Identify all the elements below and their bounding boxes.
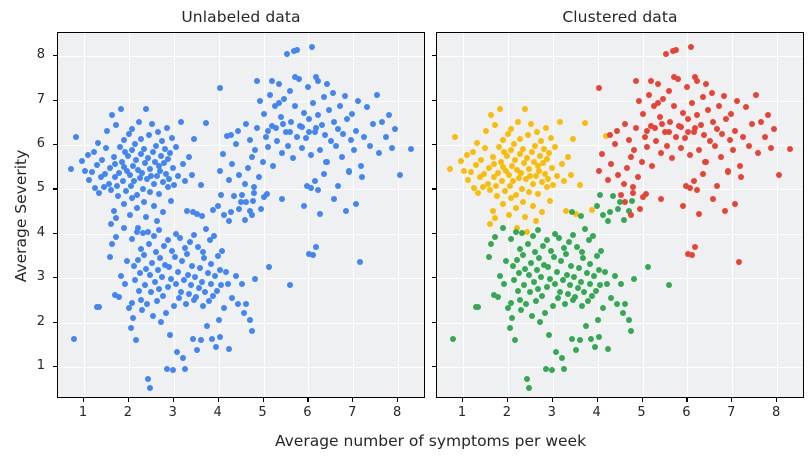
scatter-point — [367, 143, 373, 149]
scatter-point — [278, 114, 284, 120]
scatter-point — [518, 307, 524, 313]
scatter-point — [225, 281, 231, 287]
scatter-point — [642, 134, 648, 140]
scatter-point — [198, 182, 204, 188]
scatter-point — [615, 206, 621, 212]
scatter-point — [106, 181, 112, 187]
scatter-point — [349, 111, 355, 117]
scatter-point — [389, 145, 395, 151]
scatter-point — [143, 214, 149, 220]
scatter-point — [536, 255, 542, 261]
scatter-point — [470, 149, 476, 155]
scatter-point — [630, 190, 636, 196]
scatter-point — [475, 304, 481, 310]
scatter-point — [507, 183, 513, 189]
scatter-point — [633, 78, 639, 84]
scatter-point — [177, 235, 183, 241]
scatter-point — [159, 138, 165, 144]
scatter-point — [554, 269, 560, 275]
x-tick-label: 1 — [447, 405, 477, 420]
scatter-point — [612, 273, 618, 279]
scatter-point — [134, 229, 140, 235]
scatter-point — [577, 182, 583, 188]
scatter-point — [689, 252, 695, 258]
scatter-point — [522, 214, 528, 220]
scatter-point — [600, 305, 606, 311]
scatter-point — [666, 282, 672, 288]
scatter-figure: Unlabeled data Clustered data 1234567812… — [0, 0, 811, 461]
scatter-point — [131, 263, 137, 269]
scatter-point — [570, 232, 576, 238]
scatter-point — [526, 385, 532, 391]
scatter-point — [147, 189, 153, 195]
scatter-point — [509, 315, 515, 321]
scatter-point — [220, 151, 226, 157]
y-tick-mark — [53, 100, 57, 101]
scatter-point — [321, 171, 327, 177]
scatter-point — [628, 328, 634, 334]
scatter-point — [256, 174, 262, 180]
scatter-point — [528, 121, 534, 127]
scatter-point — [108, 187, 114, 193]
scatter-point — [689, 100, 695, 106]
scatter-point — [488, 112, 494, 118]
scatter-point — [133, 337, 139, 343]
scatter-point — [353, 201, 359, 207]
scatter-point — [502, 188, 508, 194]
x-tick-label: 6 — [671, 405, 701, 420]
scatter-point — [121, 201, 127, 207]
scatter-point — [499, 178, 505, 184]
scatter-point — [544, 184, 550, 190]
scatter-point — [758, 119, 764, 125]
x-tick-label: 3 — [158, 405, 188, 420]
scatter-point — [218, 192, 224, 198]
scatter-point — [738, 174, 744, 180]
scatter-point — [143, 106, 149, 112]
scatter-point — [290, 155, 296, 161]
scatter-point — [534, 129, 540, 135]
scatter-point — [330, 90, 336, 96]
scatter-point — [173, 144, 179, 150]
scatter-point — [584, 270, 590, 276]
scatter-point — [581, 289, 587, 295]
scatter-point — [517, 297, 523, 303]
scatter-point — [579, 303, 585, 309]
scatter-point — [216, 317, 222, 323]
scatter-point — [197, 265, 203, 271]
scatter-point — [682, 135, 688, 141]
scatter-point — [622, 199, 628, 205]
scatter-point — [251, 190, 257, 196]
scatter-point — [158, 319, 164, 325]
scatter-point — [513, 205, 519, 211]
scatter-point — [89, 169, 95, 175]
scatter-point — [331, 196, 337, 202]
scatter-point — [179, 258, 185, 264]
scatter-point — [181, 277, 187, 283]
scatter-point — [755, 150, 761, 156]
scatter-point — [261, 111, 267, 117]
scatter-point — [175, 269, 181, 275]
scatter-point — [573, 347, 579, 353]
scatter-point — [91, 149, 97, 155]
scatter-point — [673, 47, 679, 53]
scatter-point — [191, 136, 197, 142]
scatter-point — [281, 96, 287, 102]
scatter-point — [250, 198, 256, 204]
scatter-point — [165, 156, 171, 162]
scatter-point — [517, 136, 523, 142]
scatter-point — [158, 153, 164, 159]
scatter-point — [520, 146, 526, 152]
scatter-point — [164, 125, 170, 131]
scatter-point — [732, 128, 738, 134]
x-tick-mark — [686, 398, 687, 402]
scatter-point — [267, 92, 273, 98]
scatter-point — [215, 203, 221, 209]
scatter-point — [492, 215, 498, 221]
scatter-point — [269, 78, 275, 84]
scatter-point — [597, 282, 603, 288]
scatter-point — [108, 221, 114, 227]
scatter-point — [487, 187, 493, 193]
scatter-point — [229, 295, 235, 301]
scatter-point — [608, 161, 614, 167]
scatter-point — [746, 143, 752, 149]
scatter-point — [111, 154, 117, 160]
scatter-point — [612, 141, 618, 147]
scatter-point — [701, 132, 707, 138]
scatter-point — [527, 289, 533, 295]
scatter-point — [534, 267, 540, 273]
scatter-point — [590, 233, 596, 239]
scatter-point — [113, 234, 119, 240]
scatter-point — [299, 145, 305, 151]
scatter-point — [566, 239, 572, 245]
scatter-point — [99, 157, 105, 163]
scatter-point — [596, 267, 602, 273]
scatter-point — [583, 323, 589, 329]
scatter-point — [359, 174, 365, 180]
scatter-point — [556, 235, 562, 241]
scatter-point — [252, 147, 258, 153]
scatter-point — [167, 332, 173, 338]
scatter-point — [280, 121, 286, 127]
plot-area-clustered — [436, 32, 804, 398]
scatter-point — [655, 81, 661, 87]
scatter-point — [485, 181, 491, 187]
scatter-point — [528, 260, 534, 266]
scatter-point — [155, 129, 161, 135]
scatter-point — [563, 251, 569, 257]
scatter-point — [337, 103, 343, 109]
scatter-point — [481, 171, 487, 177]
scatter-point — [450, 336, 456, 342]
scatter-point — [595, 317, 601, 323]
scatter-point — [551, 254, 557, 260]
scatter-point — [264, 191, 270, 197]
scatter-point — [159, 274, 165, 280]
scatter-point — [497, 106, 503, 112]
scatter-point — [127, 212, 133, 218]
x-tick-mark — [128, 398, 129, 402]
scatter-point — [659, 121, 665, 127]
scatter-point — [243, 301, 249, 307]
scatter-point — [147, 272, 153, 278]
x-tick-label: 3 — [537, 405, 567, 420]
scatter-point — [630, 184, 636, 190]
scatter-point — [559, 355, 565, 361]
scatter-point — [191, 232, 197, 238]
scatter-point — [787, 146, 793, 152]
scatter-point — [491, 161, 497, 167]
scatter-point — [680, 203, 686, 209]
scatter-point — [519, 186, 525, 192]
scatter-point — [539, 293, 545, 299]
scatter-point — [526, 189, 532, 195]
scatter-point — [521, 160, 527, 166]
scatter-point — [482, 145, 488, 151]
scatter-point — [655, 100, 661, 106]
scatter-point — [228, 209, 234, 215]
scatter-point — [649, 163, 655, 169]
y-tick-label: 8 — [15, 47, 45, 62]
scatter-point — [376, 150, 382, 156]
scatter-point — [263, 134, 269, 140]
scatter-point — [582, 120, 588, 126]
scatter-point — [725, 169, 731, 175]
scatter-point — [156, 286, 162, 292]
scatter-point — [495, 294, 501, 300]
scatter-point — [294, 134, 300, 140]
scatter-point — [596, 85, 602, 91]
scatter-point — [151, 181, 157, 187]
x-axis-label: Average number of symptoms per week — [57, 432, 804, 450]
scatter-point — [524, 155, 530, 161]
scatter-point — [594, 203, 600, 209]
scatter-point — [379, 119, 385, 125]
scatter-point — [740, 134, 746, 140]
scatter-point — [204, 323, 210, 329]
scatter-point — [554, 173, 560, 179]
scatter-point — [120, 178, 126, 184]
scatter-point — [530, 203, 536, 209]
scatter-point — [348, 137, 354, 143]
scatter-point — [490, 208, 496, 214]
y-tick-mark — [432, 100, 436, 101]
scatter-point — [150, 149, 156, 155]
scatter-point — [128, 183, 134, 189]
scatter-point — [465, 177, 471, 183]
scatter-point — [203, 226, 209, 232]
scatter-point — [558, 258, 564, 264]
scatter-point — [721, 93, 727, 99]
scatter-point — [452, 134, 458, 140]
scatter-point — [544, 284, 550, 290]
scatter-point — [568, 172, 574, 178]
scatter-point — [631, 147, 637, 153]
scatter-point — [473, 162, 479, 168]
scatter-point — [229, 161, 235, 167]
scatter-point — [188, 282, 194, 288]
scatter-point — [148, 289, 154, 295]
scatter-point — [500, 225, 506, 231]
scatter-point — [749, 121, 755, 127]
scatter-point — [547, 198, 553, 204]
scatter-point — [716, 103, 722, 109]
scatter-point — [544, 237, 550, 243]
scatter-point — [531, 279, 537, 285]
scatter-point — [202, 289, 208, 295]
scatter-point — [487, 221, 493, 227]
scatter-point — [538, 274, 544, 280]
scatter-point — [592, 344, 598, 350]
scatter-point — [215, 253, 221, 259]
scatter-point — [303, 135, 309, 141]
scatter-point — [205, 270, 211, 276]
scatter-point — [694, 187, 700, 193]
scatter-point — [694, 112, 700, 118]
scatter-point — [569, 336, 575, 342]
scatter-point — [576, 265, 582, 271]
scatter-point — [732, 201, 738, 207]
scatter-point — [538, 138, 544, 144]
scatter-point — [535, 227, 541, 233]
scatter-point — [133, 157, 139, 163]
scatter-point — [346, 169, 352, 175]
scatter-point — [170, 367, 176, 373]
scatter-point — [140, 186, 146, 192]
scatter-point — [614, 301, 620, 307]
scatter-point — [560, 277, 566, 283]
y-tick-mark — [432, 233, 436, 234]
scatter-point — [582, 226, 588, 232]
scatter-point — [594, 253, 600, 259]
scatter-point — [516, 270, 522, 276]
scatter-point — [257, 98, 263, 104]
scatter-point — [254, 125, 260, 131]
scatter-point — [615, 172, 621, 178]
y-tick-mark — [53, 144, 57, 145]
scatter-point — [165, 284, 171, 290]
scatter-point — [663, 51, 669, 57]
scatter-point — [130, 315, 136, 321]
scatter-point — [151, 203, 157, 209]
scatter-point — [512, 337, 518, 343]
scatter-point — [653, 138, 659, 144]
scatter-point — [397, 172, 403, 178]
scatter-point — [208, 281, 214, 287]
scatter-point — [535, 286, 541, 292]
scatter-point — [153, 143, 159, 149]
scatter-point — [508, 300, 514, 306]
scatter-point — [182, 366, 188, 372]
scatter-point — [494, 193, 500, 199]
y-tick-mark — [432, 144, 436, 145]
scatter-point — [549, 165, 555, 171]
scatter-point — [589, 293, 595, 299]
scatter-point — [599, 151, 605, 157]
x-tick-mark — [83, 398, 84, 402]
scatter-point — [342, 93, 348, 99]
scatter-point — [497, 273, 503, 279]
scatter-point — [533, 298, 539, 304]
scatter-point — [607, 132, 613, 138]
scatter-point — [239, 281, 245, 287]
scatter-point — [557, 119, 563, 125]
scatter-point — [374, 92, 380, 98]
scatter-point — [168, 198, 174, 204]
scatter-point — [309, 44, 315, 50]
scatter-point — [344, 116, 350, 122]
scatter-point — [335, 183, 341, 189]
scatter-point — [287, 129, 293, 135]
scatter-point — [270, 163, 276, 169]
scatter-point — [490, 154, 496, 160]
scatter-point — [643, 191, 649, 197]
scatter-point — [206, 298, 212, 304]
scatter-point — [154, 173, 160, 179]
scatter-point — [223, 269, 229, 275]
x-tick-mark — [307, 398, 308, 402]
scatter-point — [529, 149, 535, 155]
scatter-point — [103, 145, 109, 151]
scatter-point — [285, 143, 291, 149]
y-tick-mark — [53, 188, 57, 189]
scatter-point — [600, 212, 606, 218]
scatter-point — [678, 145, 684, 151]
scatter-point — [561, 178, 567, 184]
scatter-point — [288, 119, 294, 125]
scatter-point — [138, 136, 144, 142]
scatter-point — [209, 336, 215, 342]
y-tick-mark — [432, 55, 436, 56]
scatter-point — [636, 98, 642, 104]
scatter-point — [549, 367, 555, 373]
scatter-point — [134, 205, 140, 211]
scatter-point — [152, 279, 158, 285]
scatter-point — [313, 244, 319, 250]
scatter-point — [591, 273, 597, 279]
x-tick-label: 1 — [68, 405, 98, 420]
scatter-point — [596, 334, 602, 340]
scatter-point — [722, 208, 728, 214]
scatter-point — [537, 319, 543, 325]
scatter-point — [475, 190, 481, 196]
scatter-point — [274, 138, 280, 144]
scatter-point — [626, 317, 632, 323]
scatter-point — [546, 332, 552, 338]
scatter-point — [322, 132, 328, 138]
scatter-point — [776, 172, 782, 178]
scatter-point — [301, 110, 307, 116]
scatter-point — [543, 366, 549, 372]
x-tick-label: 7 — [716, 405, 746, 420]
scatter-point — [694, 78, 700, 84]
y-tick-mark — [53, 233, 57, 234]
scatter-point — [116, 170, 122, 176]
scatter-point — [587, 261, 593, 267]
scatter-point — [524, 376, 530, 382]
scatter-point — [140, 230, 146, 236]
scatter-point — [526, 166, 532, 172]
scatter-point — [550, 182, 556, 188]
scatter-point — [351, 147, 357, 153]
scatter-point — [254, 78, 260, 84]
scatter-point — [239, 192, 245, 198]
scatter-point — [533, 218, 539, 224]
